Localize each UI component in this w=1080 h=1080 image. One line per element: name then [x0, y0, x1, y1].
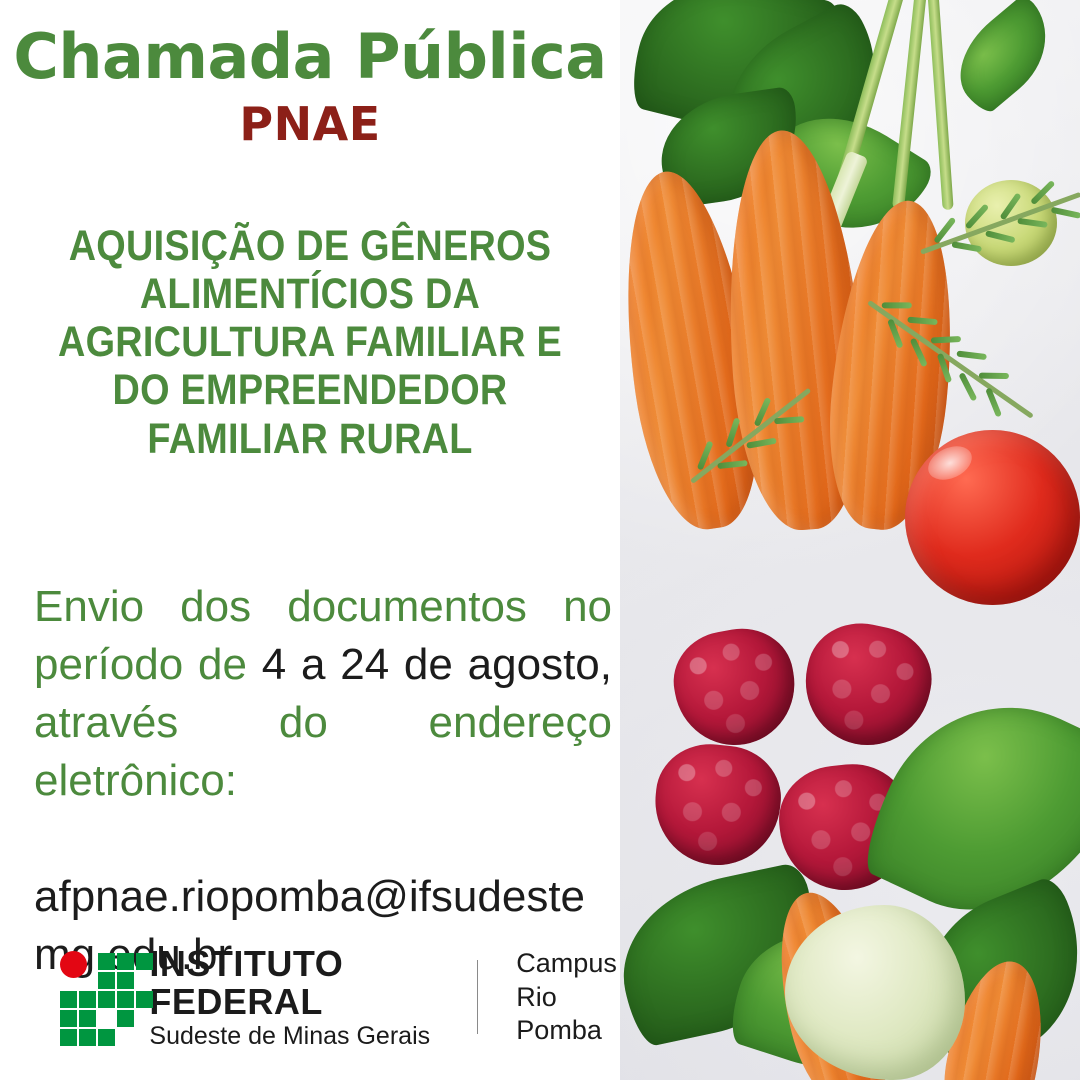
logo-square	[98, 991, 115, 1008]
page-subtitle: PNAE	[0, 99, 620, 150]
institute-region: Sudeste de Minas Gerais	[149, 1023, 442, 1051]
body-text: Envio dos documentos no período de 4 a 2…	[34, 578, 612, 985]
campus-block: Campus Rio Pomba	[516, 947, 620, 1048]
logo-square	[98, 1029, 115, 1046]
headline-line-4: DO EMPREENDEDOR	[37, 366, 583, 414]
body-line-1: Envio dos documentos	[34, 582, 527, 631]
vegetables-photo	[620, 0, 1080, 1080]
logo-square	[98, 972, 115, 989]
logo-square	[117, 1010, 134, 1027]
if-logo-icon	[60, 951, 131, 1043]
headline-line-2: ALIMENTÍCIOS DA	[37, 270, 583, 318]
headline-line-5: FAMILIAR RURAL	[37, 415, 583, 463]
logo-square	[117, 953, 134, 970]
campus-name: Rio Pomba	[516, 981, 620, 1049]
logo-square	[79, 1010, 96, 1027]
body-line-3-month: agosto,	[468, 640, 612, 689]
institute-name: INSTITUTO FEDERAL	[149, 945, 442, 1021]
logo-square	[136, 953, 153, 970]
logo-square	[117, 991, 134, 1008]
text-column: Chamada Pública PNAE AQUISIÇÃO DE GÊNERO…	[0, 0, 620, 1080]
logo-square	[79, 991, 96, 1008]
headline: AQUISIÇÃO DE GÊNEROS ALIMENTÍCIOS DA AGR…	[37, 222, 583, 463]
headline-line-3: AGRICULTURA FAMILIAR E	[37, 318, 583, 366]
logo-wordmark: INSTITUTO FEDERAL Sudeste de Minas Gerai…	[149, 945, 442, 1050]
body-paragraph: Envio dos documentos no período de 4 a 2…	[34, 578, 612, 868]
page-title: Chamada Pública	[0, 24, 620, 89]
institutional-logo: INSTITUTO FEDERAL Sudeste de Minas Gerai…	[60, 945, 620, 1050]
tomato	[905, 430, 1080, 605]
logo-divider	[477, 960, 479, 1034]
logo-square	[117, 972, 134, 989]
body-line-3-green: através do	[34, 698, 328, 747]
logo-square	[60, 991, 77, 1008]
title-block: Chamada Pública PNAE	[0, 24, 620, 150]
logo-square	[60, 1010, 77, 1027]
headline-line-1: AQUISIÇÃO DE GÊNEROS	[37, 222, 583, 270]
poster-root: Chamada Pública PNAE AQUISIÇÃO DE GÊNERO…	[0, 0, 1080, 1080]
logo-square	[79, 1029, 96, 1046]
logo-red-dot	[60, 951, 87, 978]
logo-square	[60, 1029, 77, 1046]
logo-square	[98, 953, 115, 970]
logo-square	[136, 991, 153, 1008]
body-line-2-dates: 4 a 24 de	[262, 640, 453, 689]
campus-label: Campus	[516, 947, 620, 981]
